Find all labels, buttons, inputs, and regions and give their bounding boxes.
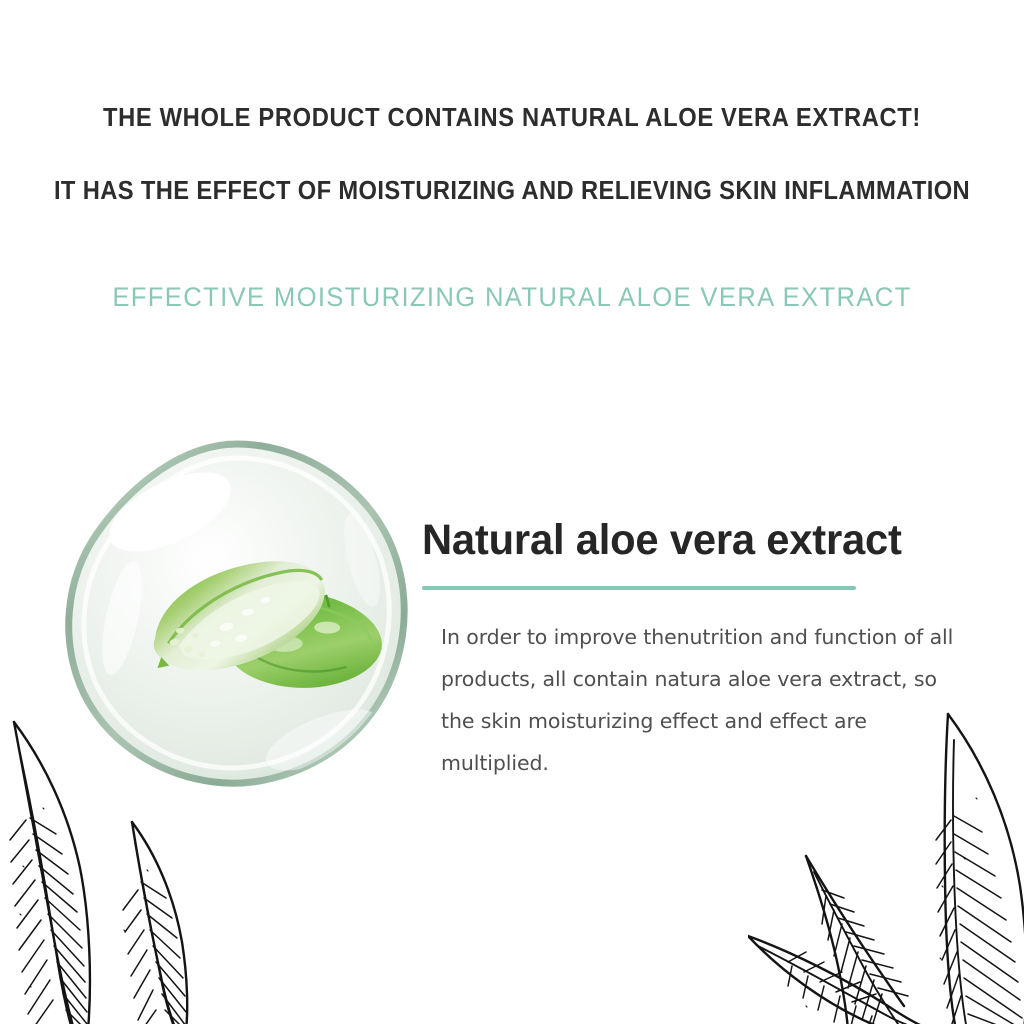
promo-page: THE WHOLE PRODUCT CONTAINS NATURAL ALOE … <box>0 0 1024 1024</box>
headline-block: THE WHOLE PRODUCT CONTAINS NATURAL ALOE … <box>0 104 1024 207</box>
leaf-group-right <box>748 700 1024 1024</box>
leaf-group-left <box>0 700 242 1024</box>
feature-title: Natural aloe vera extract <box>422 516 965 564</box>
headline-secondary: IT HAS THE EFFECT OF MOISTURIZING AND RE… <box>36 177 988 206</box>
hand-drawn-leaf-illustration-left <box>0 700 242 1024</box>
subheadline: EFFECTIVE MOISTURIZING NATURAL ALOE VERA… <box>26 283 999 313</box>
hand-drawn-leaf-illustration-right <box>748 700 1024 1024</box>
headline-primary: THE WHOLE PRODUCT CONTAINS NATURAL ALOE … <box>36 104 988 133</box>
title-divider <box>422 586 856 590</box>
